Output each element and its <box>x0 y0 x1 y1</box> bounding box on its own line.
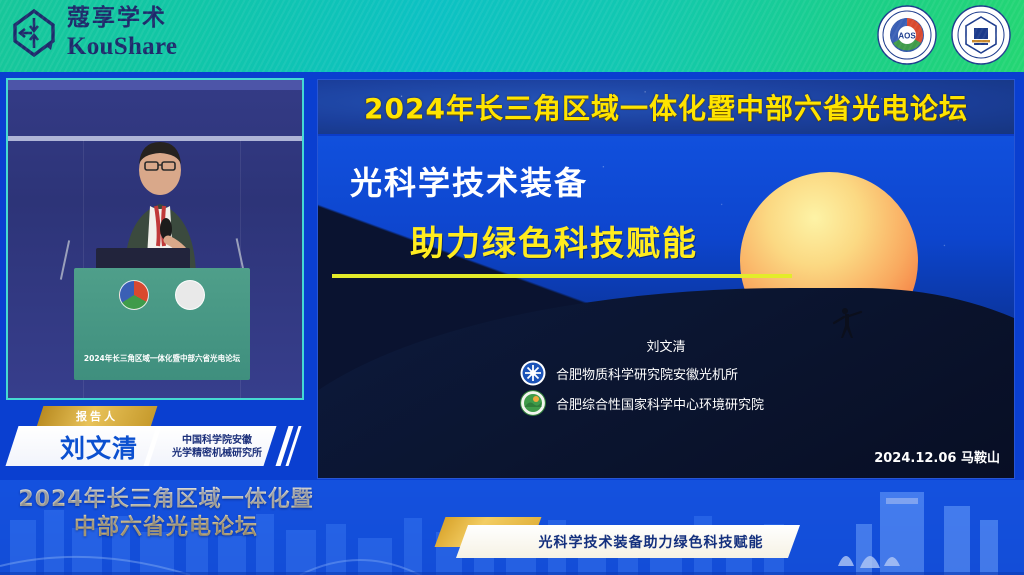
talk-title-text: 光科学技术装备助力绿色科技赋能 <box>506 526 796 557</box>
slide-date-location: 2024.12.06 马鞍山 <box>874 447 1000 466</box>
slide-author-name: 刘文清 <box>318 336 1014 355</box>
podium-logos <box>74 280 250 310</box>
slide-heading-yellow: 助力绿色科技赋能 <box>410 216 698 265</box>
slide-title-bar: 2024年长三角区域一体化暨中部六省光电论坛 <box>318 80 1014 134</box>
hiker-silhouette-icon <box>830 306 864 340</box>
podium-banner-text: 2024年长三角区域一体化暨中部六省光电论坛 <box>79 353 244 364</box>
talk-title-plate: 光科学技术装备助力绿色科技赋能 <box>440 517 800 561</box>
aos-society-logo-icon: AOS <box>876 4 938 66</box>
slide-affiliation-text: 合肥物质科学研究院安徽光机所 <box>556 364 738 383</box>
bottom-forum-title: 2024年长三角区域一体化暨 中部六省光电论坛 <box>8 486 324 542</box>
podium-aos-logo-icon <box>119 280 149 310</box>
ahut-university-logo-icon <box>950 4 1012 66</box>
slide-affiliation-row: 合肥综合性国家科学中心环境研究院 <box>520 390 764 416</box>
speaker-affiliation: 中国科学院安徽 光学精密机械研究所 <box>152 430 282 464</box>
live-speaker-camera[interactable]: 2024年长三角区域一体化暨中部六省光电论坛 <box>6 78 304 400</box>
slide-divider-rule <box>332 274 792 278</box>
forum-title: 2024年长三角区域一体化暨中部六省光电论坛 <box>364 87 968 127</box>
bottom-forum-title-line1: 2024年长三角区域一体化暨 <box>8 486 324 514</box>
speaker-name: 刘文清 <box>44 430 154 463</box>
slide-body: 光科学技术装备 助力绿色科技赋能 刘文清 合肥物质科学研究院安徽光机所 <box>318 136 1014 478</box>
speaker-role-ribbon: 报告人 <box>37 406 158 427</box>
svg-text:AOS: AOS <box>898 32 916 41</box>
speaker-banner: 报告人 刘文清 中国科学院安徽 光学精密机械研究所 <box>0 404 310 478</box>
presentation-slide[interactable]: 2024年长三角区域一体化暨中部六省光电论坛 光科学技术装备 助力绿色科技赋能 … <box>318 80 1014 478</box>
app-header: 蔻享学术 KouShare AOS <box>0 0 1024 72</box>
slide-heading-white: 光科学技术装备 <box>350 158 588 204</box>
podium: 2024年长三角区域一体化暨中部六省光电论坛 <box>74 268 250 380</box>
bottom-forum-title-line2: 中部六省光电论坛 <box>8 514 324 542</box>
slide-affiliation-row: 合肥物质科学研究院安徽光机所 <box>520 360 738 386</box>
wall-top-trim <box>8 80 302 90</box>
hfips-institute-logo-icon <box>520 360 546 386</box>
hfnsc-environment-logo-icon <box>520 390 546 416</box>
speaker-role-label: 报告人 <box>40 406 154 427</box>
brand-name-cn: 蔻享学术 <box>67 7 177 30</box>
broadcast-page: 蔻享学术 KouShare AOS <box>0 0 1024 575</box>
brand-logo[interactable]: 蔻享学术 KouShare <box>10 7 177 59</box>
header-org-logos: AOS <box>876 4 1012 66</box>
speaker-affiliation-line1: 中国科学院安徽 <box>182 434 252 448</box>
brand-name-en: KouShare <box>67 34 177 59</box>
koushare-diamond-icon <box>10 8 58 58</box>
podium-ahut-logo-icon <box>175 280 205 310</box>
speaker-affiliation-line2: 光学精密机械研究所 <box>172 447 262 461</box>
slide-affiliation-text: 合肥综合性国家科学中心环境研究院 <box>556 394 764 413</box>
